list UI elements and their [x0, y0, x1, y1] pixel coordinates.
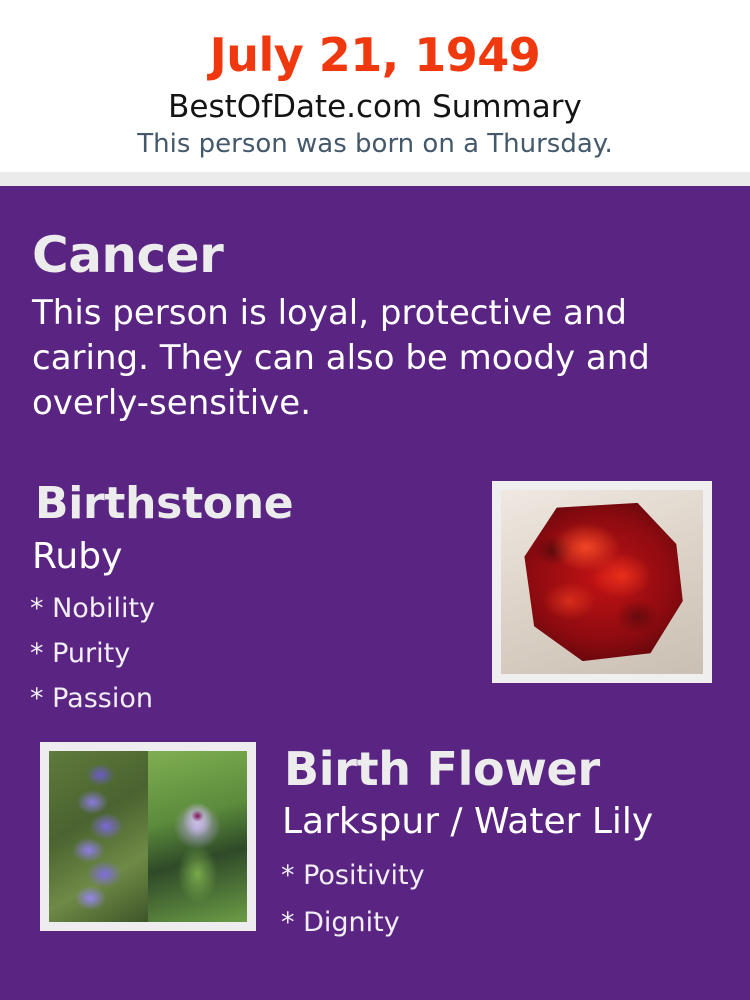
- flower-photo-pair: [49, 751, 247, 922]
- birth-flower-image-frame: [40, 742, 256, 931]
- ruby-crystal-photo: [501, 490, 703, 674]
- water-lily-art: [148, 751, 247, 922]
- birthstone-trait-list: * Nobility * Purity * Passion: [30, 586, 155, 721]
- birthday-summary-card: July 21, 1949 BestOfDate.com Summary Thi…: [0, 0, 750, 1000]
- zodiac-sign-heading: Cancer: [32, 226, 223, 284]
- birthstone-image-frame: [492, 481, 712, 683]
- birth-flower-name: Larkspur / Water Lily: [282, 800, 653, 844]
- list-item: * Nobility: [30, 586, 155, 631]
- larkspur-art: [49, 751, 148, 922]
- list-item: * Positivity: [281, 852, 425, 899]
- weekday-statement: This person was born on a Thursday.: [0, 128, 750, 160]
- content-panel: Cancer This person is loyal, protective …: [0, 186, 750, 1000]
- water-lily-photo: [148, 751, 247, 922]
- header-divider: [0, 172, 750, 186]
- birth-flower-heading: Birth Flower: [284, 742, 600, 796]
- list-item: * Dignity: [281, 899, 425, 946]
- larkspur-photo: [49, 751, 148, 922]
- birthstone-heading: Birthstone: [35, 478, 293, 530]
- page-title-date: July 21, 1949: [0, 28, 750, 82]
- header: July 21, 1949 BestOfDate.com Summary Thi…: [0, 0, 750, 172]
- birthstone-name: Ruby: [32, 535, 122, 579]
- list-item: * Passion: [30, 676, 155, 721]
- site-name: BestOfDate.com Summary: [0, 88, 750, 126]
- zodiac-description: This person is loyal, protective and car…: [32, 291, 652, 426]
- birth-flower-trait-list: * Positivity * Dignity: [281, 852, 425, 946]
- list-item: * Purity: [30, 631, 155, 676]
